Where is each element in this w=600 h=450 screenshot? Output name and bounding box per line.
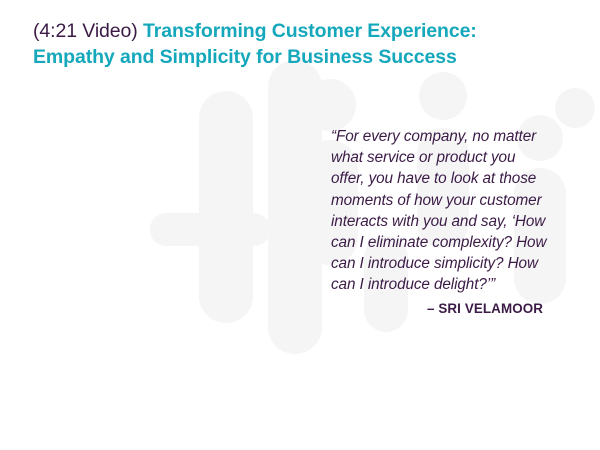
quote-attribution: – SRI VELAMOOR xyxy=(331,300,543,318)
watermark-person-head-2 xyxy=(419,72,467,120)
watermark-h-right-bar xyxy=(268,60,322,292)
quote-text: “For every company, no matter what servi… xyxy=(331,126,549,296)
watermark-h-lower-stem xyxy=(268,246,322,354)
title-video-duration-prefix: (4:21 Video) xyxy=(33,20,143,42)
watermark-h-left-bar xyxy=(199,91,253,323)
slide-canvas: (4:21 Video) Transforming Customer Exper… xyxy=(0,0,600,450)
page-title: (4:21 Video) Transforming Customer Exper… xyxy=(33,19,533,70)
watermark-blob-1 xyxy=(555,88,595,128)
quote-block: “For every company, no matter what servi… xyxy=(331,126,549,318)
watermark-h-crossbar xyxy=(150,213,270,246)
watermark-person-head-1 xyxy=(304,79,356,131)
